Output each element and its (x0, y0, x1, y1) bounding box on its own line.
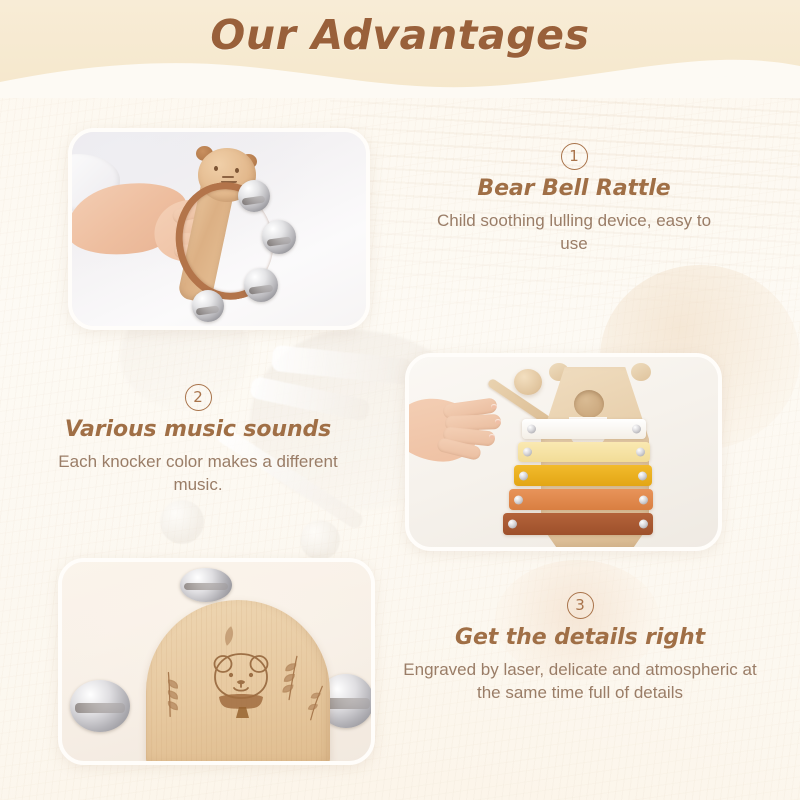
xylophone-bar (518, 442, 650, 462)
mallet-head (514, 369, 542, 395)
photo-bear-tambourine[interactable] (58, 558, 375, 765)
bar-screw (632, 425, 641, 434)
bear-eye-right (235, 168, 239, 173)
jingle-band (75, 703, 125, 713)
bar-screw (639, 520, 648, 529)
bar-screw (638, 471, 647, 480)
jingle-bell (238, 180, 270, 212)
photo-bear-bell-rattle-image (72, 132, 366, 326)
finger-nail (495, 419, 501, 424)
finger-nail (491, 404, 497, 409)
feature-block-1: 1 Bear Bell Rattle Child soothing lullin… (424, 143, 724, 256)
jingle-bell (262, 220, 296, 254)
feature-block-2: 2 Various music sounds Each knocker colo… (43, 384, 353, 497)
infographic-page: Our Advantages (0, 0, 800, 800)
background-ghost-bell (160, 500, 204, 544)
xylophone-bear-snout (574, 390, 604, 418)
jingle-band (184, 583, 228, 590)
feature-description-3: Engraved by laser, delicate and atmosphe… (400, 658, 760, 705)
photo-bear-tambourine-image (62, 562, 371, 761)
feature-title-3: Get the details right (400, 625, 760, 650)
xylophone-bar (522, 419, 646, 439)
feature-number-2: 2 (185, 384, 212, 411)
bar-screw (514, 495, 523, 504)
background-ghost-bell (300, 520, 340, 560)
bar-screw (523, 448, 532, 457)
tambourine-jingle-left (70, 680, 130, 732)
feature-title-1: Bear Bell Rattle (424, 176, 724, 201)
bar-screw (636, 448, 645, 457)
bar-screw (639, 495, 648, 504)
tambourine-jingle-top (180, 568, 232, 602)
feature-title-2: Various music sounds (43, 417, 353, 442)
feature-description-1: Child soothing lulling device, easy to u… (424, 209, 724, 256)
feature-block-3: 3 Get the details right Engraved by lase… (400, 592, 760, 705)
xylophone-bar (503, 513, 653, 535)
feature-description-2: Each knocker color makes a different mus… (43, 450, 353, 497)
xylophone-bar (514, 465, 652, 486)
bar-screw (519, 471, 528, 480)
photo-bear-bell-rattle[interactable] (68, 128, 370, 330)
bar-screw (527, 425, 536, 434)
bear-eye-left (214, 166, 218, 171)
finger-nail (489, 434, 495, 439)
jingle-bell (192, 290, 224, 322)
photo-bear-xylophone-image (409, 357, 718, 547)
page-title: Our Advantages (0, 11, 800, 59)
bar-screw (508, 520, 517, 529)
xylophone-bear-ear-right (631, 363, 651, 381)
jingle-bell (244, 268, 278, 302)
photo-bear-xylophone[interactable] (405, 353, 722, 551)
feature-number-3: 3 (567, 592, 594, 619)
bear-muzzle (222, 176, 234, 178)
engraved-leaf-sprig (302, 685, 331, 722)
feature-number-1: 1 (561, 143, 588, 170)
engraved-bear-with-scarf (202, 650, 280, 718)
xylophone-bar (509, 489, 653, 510)
